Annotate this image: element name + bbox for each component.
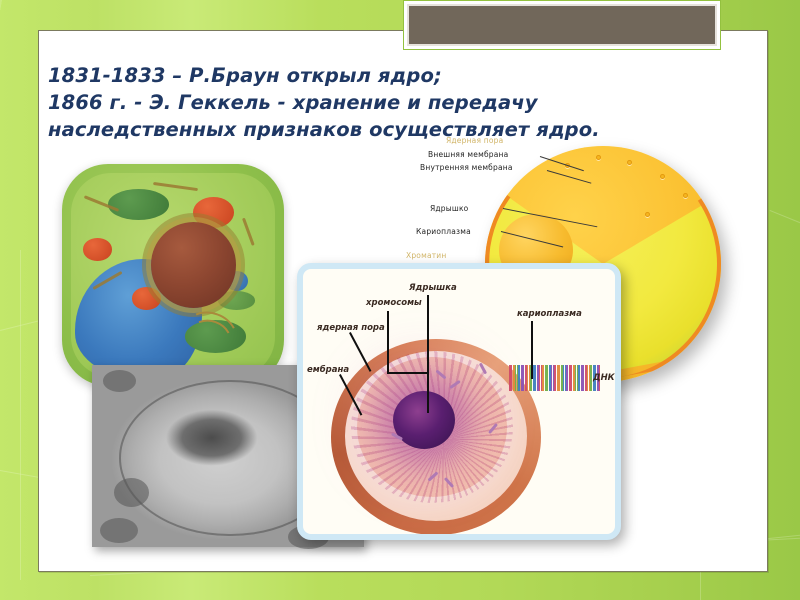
leader-line — [503, 208, 597, 227]
leader-line — [531, 321, 533, 379]
plant-cell-illustration — [62, 164, 284, 386]
label-chromosomes: хромосомы — [366, 298, 422, 308]
organelle-blob — [100, 518, 138, 543]
cytoplasm — [71, 173, 275, 377]
leader-line — [501, 231, 563, 247]
plastid — [132, 287, 161, 309]
leader-line — [387, 311, 389, 373]
label-nuclear-pore: Ядерная пора — [446, 136, 503, 145]
label-inner-membrane: Внутренняя мембрана — [420, 163, 513, 172]
label-karyoplasm: кариоплазма — [517, 309, 582, 319]
media-placeholder-frame[interactable] — [403, 0, 721, 50]
leader-line — [427, 295, 429, 413]
label-nucleolus: Ядрышка — [409, 283, 457, 293]
nucleolus — [393, 391, 455, 449]
organelle-blob — [103, 370, 136, 392]
label-outer-membrane: Внешняя мембрана — [428, 150, 508, 159]
leader-line — [547, 170, 591, 184]
nucleus-diagram-card: Ядрышка хромосомы кариоплазма ядерная по… — [297, 263, 621, 540]
card-inner: Ядрышка хромосомы кариоплазма ядерная по… — [303, 269, 615, 534]
plastid — [83, 238, 112, 260]
label-membrane: ембрана — [307, 365, 349, 375]
endoplasmic-reticulum — [242, 218, 255, 246]
label-chromatin: Хроматин — [406, 251, 447, 260]
mitochondrion — [108, 189, 169, 220]
endoplasmic-reticulum — [153, 182, 198, 191]
slide-canvas: 1831-1833 – Р.Браун открыл ядро; 1866 г.… — [0, 0, 800, 600]
label-dna: ДНК — [593, 373, 615, 383]
label-nucleolus: Ядрышко — [430, 204, 468, 213]
page-title: 1831-1833 – Р.Браун открыл ядро; 1866 г.… — [48, 62, 688, 143]
label-karyoplasm: Кариоплазма — [416, 227, 471, 236]
dna-helix — [509, 365, 601, 391]
organelle-blob — [114, 478, 149, 507]
label-nuclear-pore: ядерная пора — [317, 323, 385, 333]
cell-nucleus — [151, 222, 237, 308]
leader-line — [387, 372, 429, 374]
media-placeholder[interactable] — [407, 4, 717, 46]
